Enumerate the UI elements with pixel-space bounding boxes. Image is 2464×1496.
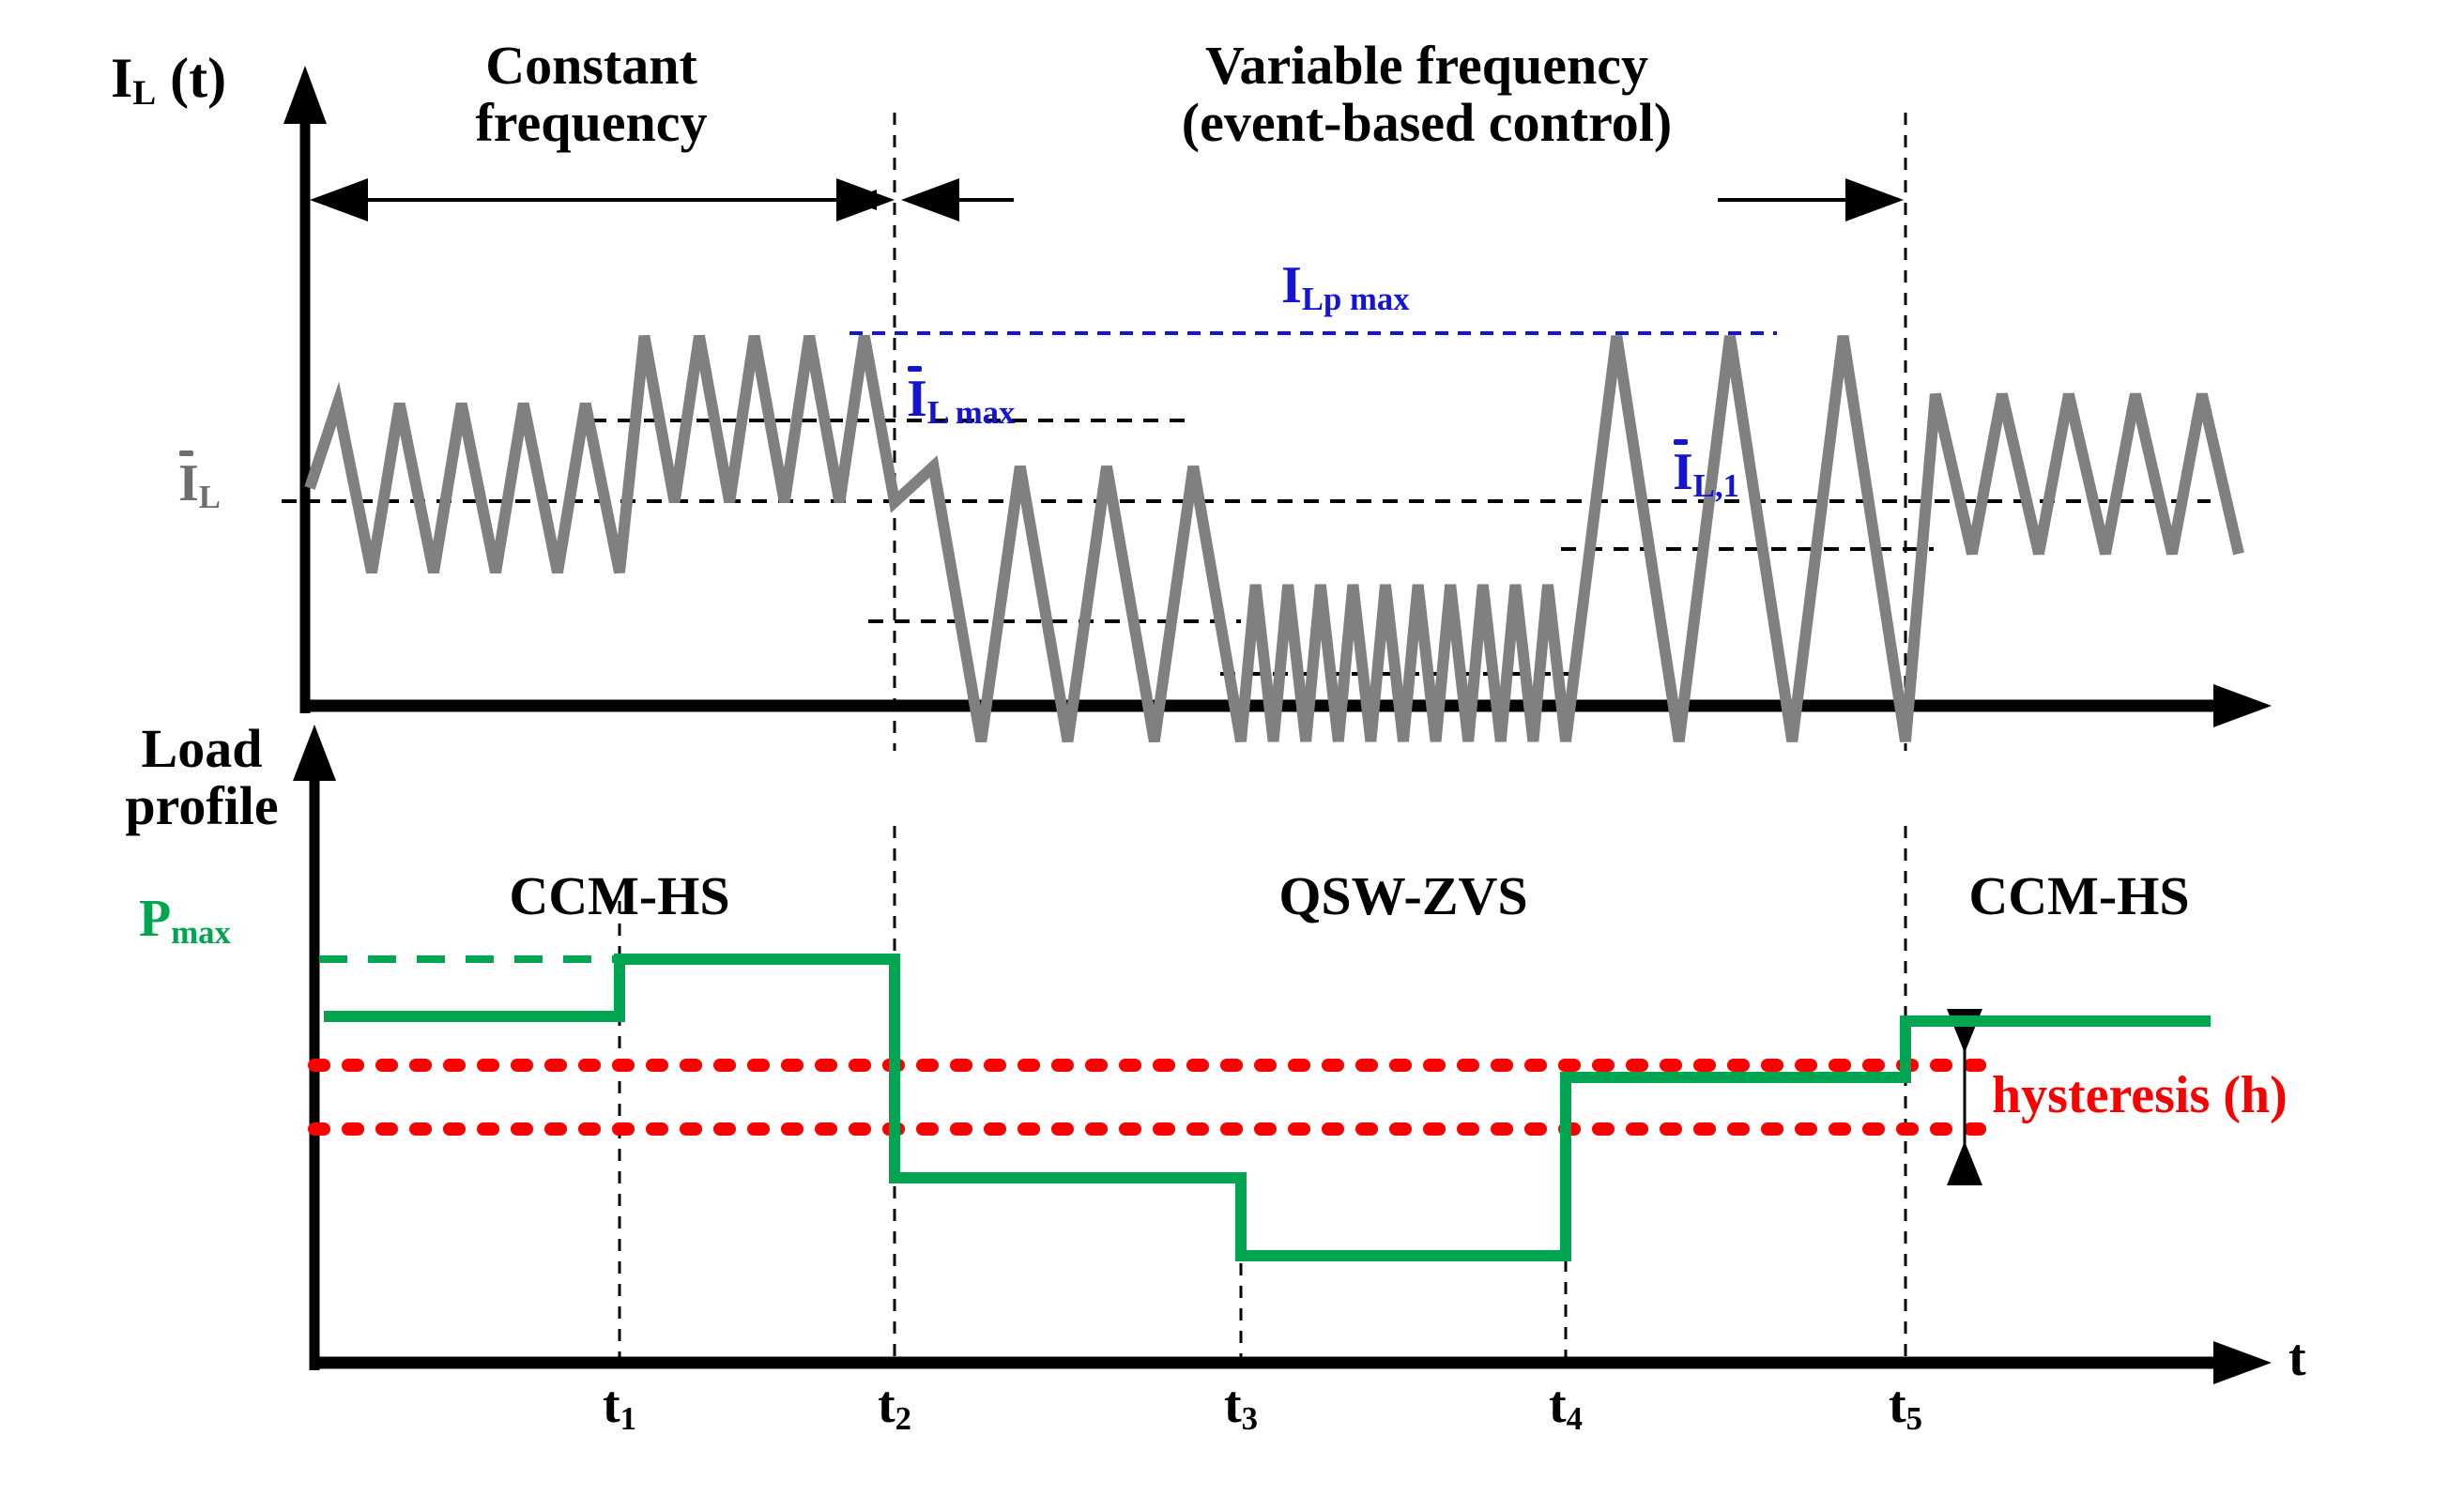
il-mean-sub: L [199,479,221,515]
t2-base: t [878,1376,895,1434]
mode-label-qsw-zvs: QSW-ZVS [1220,868,1586,925]
inductor-current-waveform [310,336,2239,741]
time-marker-t1: t1 [573,1378,666,1433]
variable-frequency-span [901,178,1904,221]
diagram-canvas [0,0,2464,1496]
mode-label-ccm-hs-1: CCM-HS [460,868,779,925]
time-marker-t4: t4 [1519,1378,1613,1433]
constant-frequency-line1: Constant [408,38,774,95]
il-max-sub: L max [927,394,1016,431]
t1-base: t [603,1376,620,1434]
variable-frequency-line2: (event-based control) [1014,95,1840,152]
hysteresis-label: hysteresis (h) [1992,1068,2288,1123]
t3-base: t [1224,1376,1242,1434]
t2-sub: 2 [895,1400,911,1437]
il-mean-base: I [178,456,199,511]
il-max-label: IL max [907,372,1015,427]
pmax-label: Pmax [139,892,231,947]
constant-frequency-line2: frequency [408,95,774,152]
load-profile-line2: profile [84,778,319,835]
t5-sub: 5 [1906,1400,1922,1437]
variable-frequency-line1: Variable frequency [1014,38,1840,95]
time-marker-t2: t2 [848,1378,941,1433]
figure-root: IL (t) Constant frequency Variable frequ… [0,0,2464,1496]
ilp-max-label: ILp max [1281,258,1410,313]
time-axis-label: t [2288,1331,2306,1386]
current-axis-label-base: I [111,47,132,109]
hysteresis-band [314,1009,1999,1185]
current-axis-label-tail: (t) [156,47,226,109]
il-1-sub: L,1 [1693,467,1739,504]
current-axis-label: IL (t) [111,49,226,108]
pmax-base: P [139,890,171,948]
ilp-max-base: I [1281,256,1302,314]
il-1-label: IL,1 [1673,445,1739,500]
il-1-base: I [1673,445,1693,500]
t4-sub: 4 [1567,1400,1583,1437]
time-marker-t5: t5 [1859,1378,1952,1433]
variable-frequency-label: Variable frequency (event-based control) [1014,38,1840,152]
time-marker-t3: t3 [1194,1378,1288,1433]
t1-sub: 1 [620,1400,636,1437]
mode-label-ccm-hs-2: CCM-HS [1920,868,2239,925]
constant-frequency-label: Constant frequency [408,38,774,152]
load-axes [293,725,2272,1384]
t3-sub: 3 [1242,1400,1258,1437]
t5-base: t [1889,1376,1906,1434]
il-max-base: I [907,372,927,427]
current-axis-label-sub: L [132,74,156,113]
current-axes [283,66,2272,727]
il-mean-label: IL [178,456,221,511]
t4-base: t [1549,1376,1567,1434]
region-dividers-top [895,113,1905,751]
load-profile-staircase [324,959,2211,1256]
pmax-sub: max [171,914,231,951]
ilp-max-sub: Lp max [1302,281,1410,317]
constant-frequency-span [310,178,895,221]
load-profile-line1: Load [84,721,319,778]
load-profile-axis-label: Load profile [84,721,319,835]
